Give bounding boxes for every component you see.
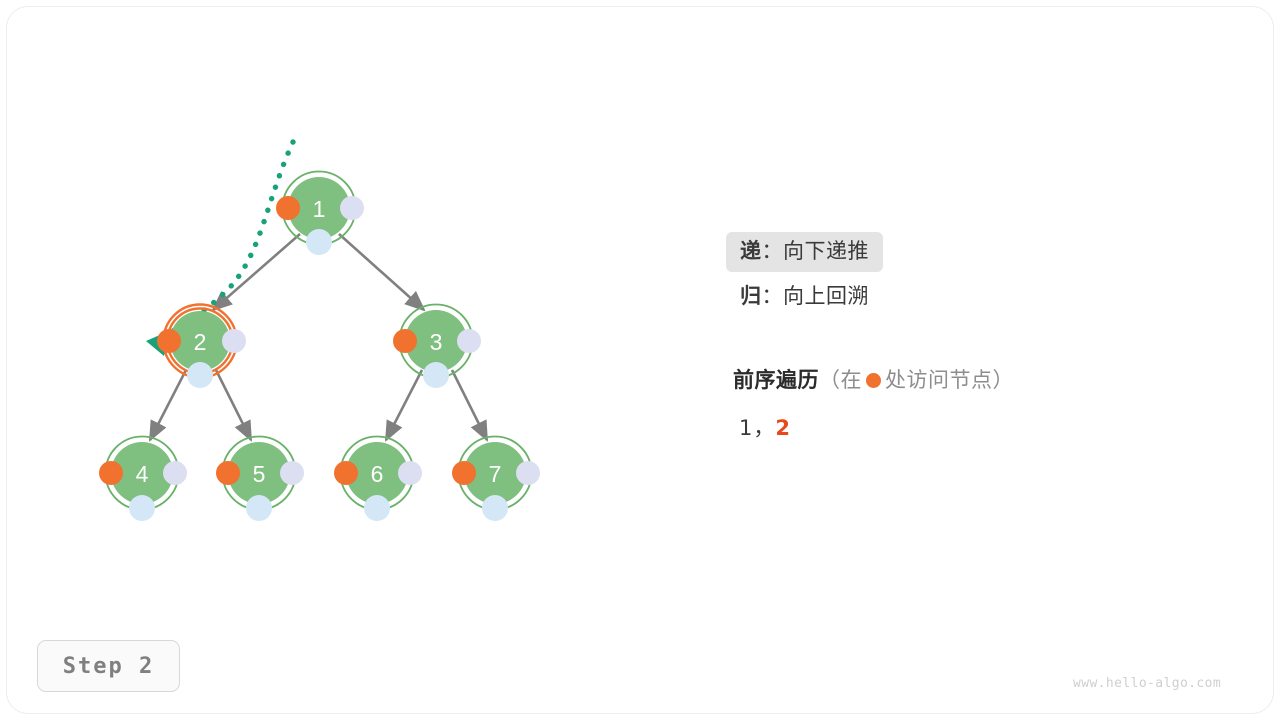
node-5-right-dot: [280, 461, 304, 485]
node-7-bottom-dot: [482, 495, 508, 521]
edge-2-4: [150, 370, 186, 440]
node-4-right-dot: [163, 461, 187, 485]
node-7-label: 7: [489, 461, 502, 487]
node-6-bottom-dot: [364, 495, 390, 521]
watermark: www.hello-algo.com: [1073, 676, 1221, 691]
node-7-right-dot: [516, 461, 540, 485]
node-3-label: 3: [430, 329, 443, 355]
traversal-note-after: 处访问节点）: [885, 369, 1014, 392]
recursion-legend: 递：向下递推 归：向上回溯: [726, 232, 1226, 317]
traversal-sequence: 1，2: [739, 412, 791, 442]
orange-dot-icon: [866, 373, 881, 388]
binary-tree-diagram: 1 2 3: [0, 0, 1280, 720]
tree-node-2[interactable]: 2: [157, 305, 246, 389]
node-1-right-dot: [340, 196, 364, 220]
legend-line-return: 归：向上回溯: [726, 272, 1226, 317]
legend-line-recurse: 递：向下递推: [726, 232, 1226, 272]
node-5-left-dot: [216, 461, 240, 485]
step-badge-label: Step 2: [63, 654, 154, 679]
node-1-bottom-dot: [306, 229, 332, 255]
diagram-page: 1 2 3: [0, 0, 1280, 720]
edge-3-7: [452, 370, 487, 440]
traversal-heading: 前序遍历（在处访问节点）: [733, 364, 1014, 394]
node-5-bottom-dot: [246, 495, 272, 521]
tree-node-7[interactable]: 7: [452, 437, 540, 522]
traversal-sequence-current: 2: [775, 416, 791, 440]
tree-node-6[interactable]: 6: [334, 437, 422, 522]
tree-node-5[interactable]: 5: [216, 437, 304, 522]
node-2-bottom-dot: [187, 362, 213, 388]
node-2-left-dot: [157, 329, 181, 353]
node-6-label: 6: [371, 461, 384, 487]
legend-return-keyword: 归: [740, 285, 762, 308]
traversal-title: 前序遍历: [733, 369, 819, 392]
node-3-left-dot: [393, 329, 417, 353]
traversal-sequence-prior: 1，: [739, 416, 775, 440]
node-2-label: 2: [194, 329, 207, 355]
legend-recurse-highlight: 递：向下递推: [726, 232, 883, 272]
node-2-right-dot: [222, 329, 246, 353]
edge-1-3: [339, 234, 424, 310]
node-6-right-dot: [398, 461, 422, 485]
node-4-label: 4: [136, 461, 149, 487]
node-3-right-dot: [457, 329, 481, 353]
legend-recurse-keyword: 递: [740, 240, 762, 263]
node-4-bottom-dot: [129, 495, 155, 521]
node-5-label: 5: [253, 461, 266, 487]
node-7-left-dot: [452, 461, 476, 485]
tree-node-4[interactable]: 4: [99, 437, 187, 522]
node-6-left-dot: [334, 461, 358, 485]
legend-return-wrapper: 归：向上回溯: [726, 277, 883, 317]
node-1-label: 1: [313, 196, 326, 222]
tree-nodes: 1 2 3: [99, 172, 540, 522]
legend-recurse-text: ：向下递推: [762, 240, 870, 263]
node-3-bottom-dot: [423, 362, 449, 388]
edge-2-5: [216, 370, 251, 440]
node-1-left-dot: [276, 196, 300, 220]
edge-3-6: [386, 370, 422, 440]
tree-node-3[interactable]: 3: [393, 305, 481, 389]
step-badge: Step 2: [37, 640, 180, 692]
traversal-note-before: （在: [819, 369, 862, 392]
node-4-left-dot: [99, 461, 123, 485]
legend-return-text: ：向上回溯: [762, 285, 870, 308]
